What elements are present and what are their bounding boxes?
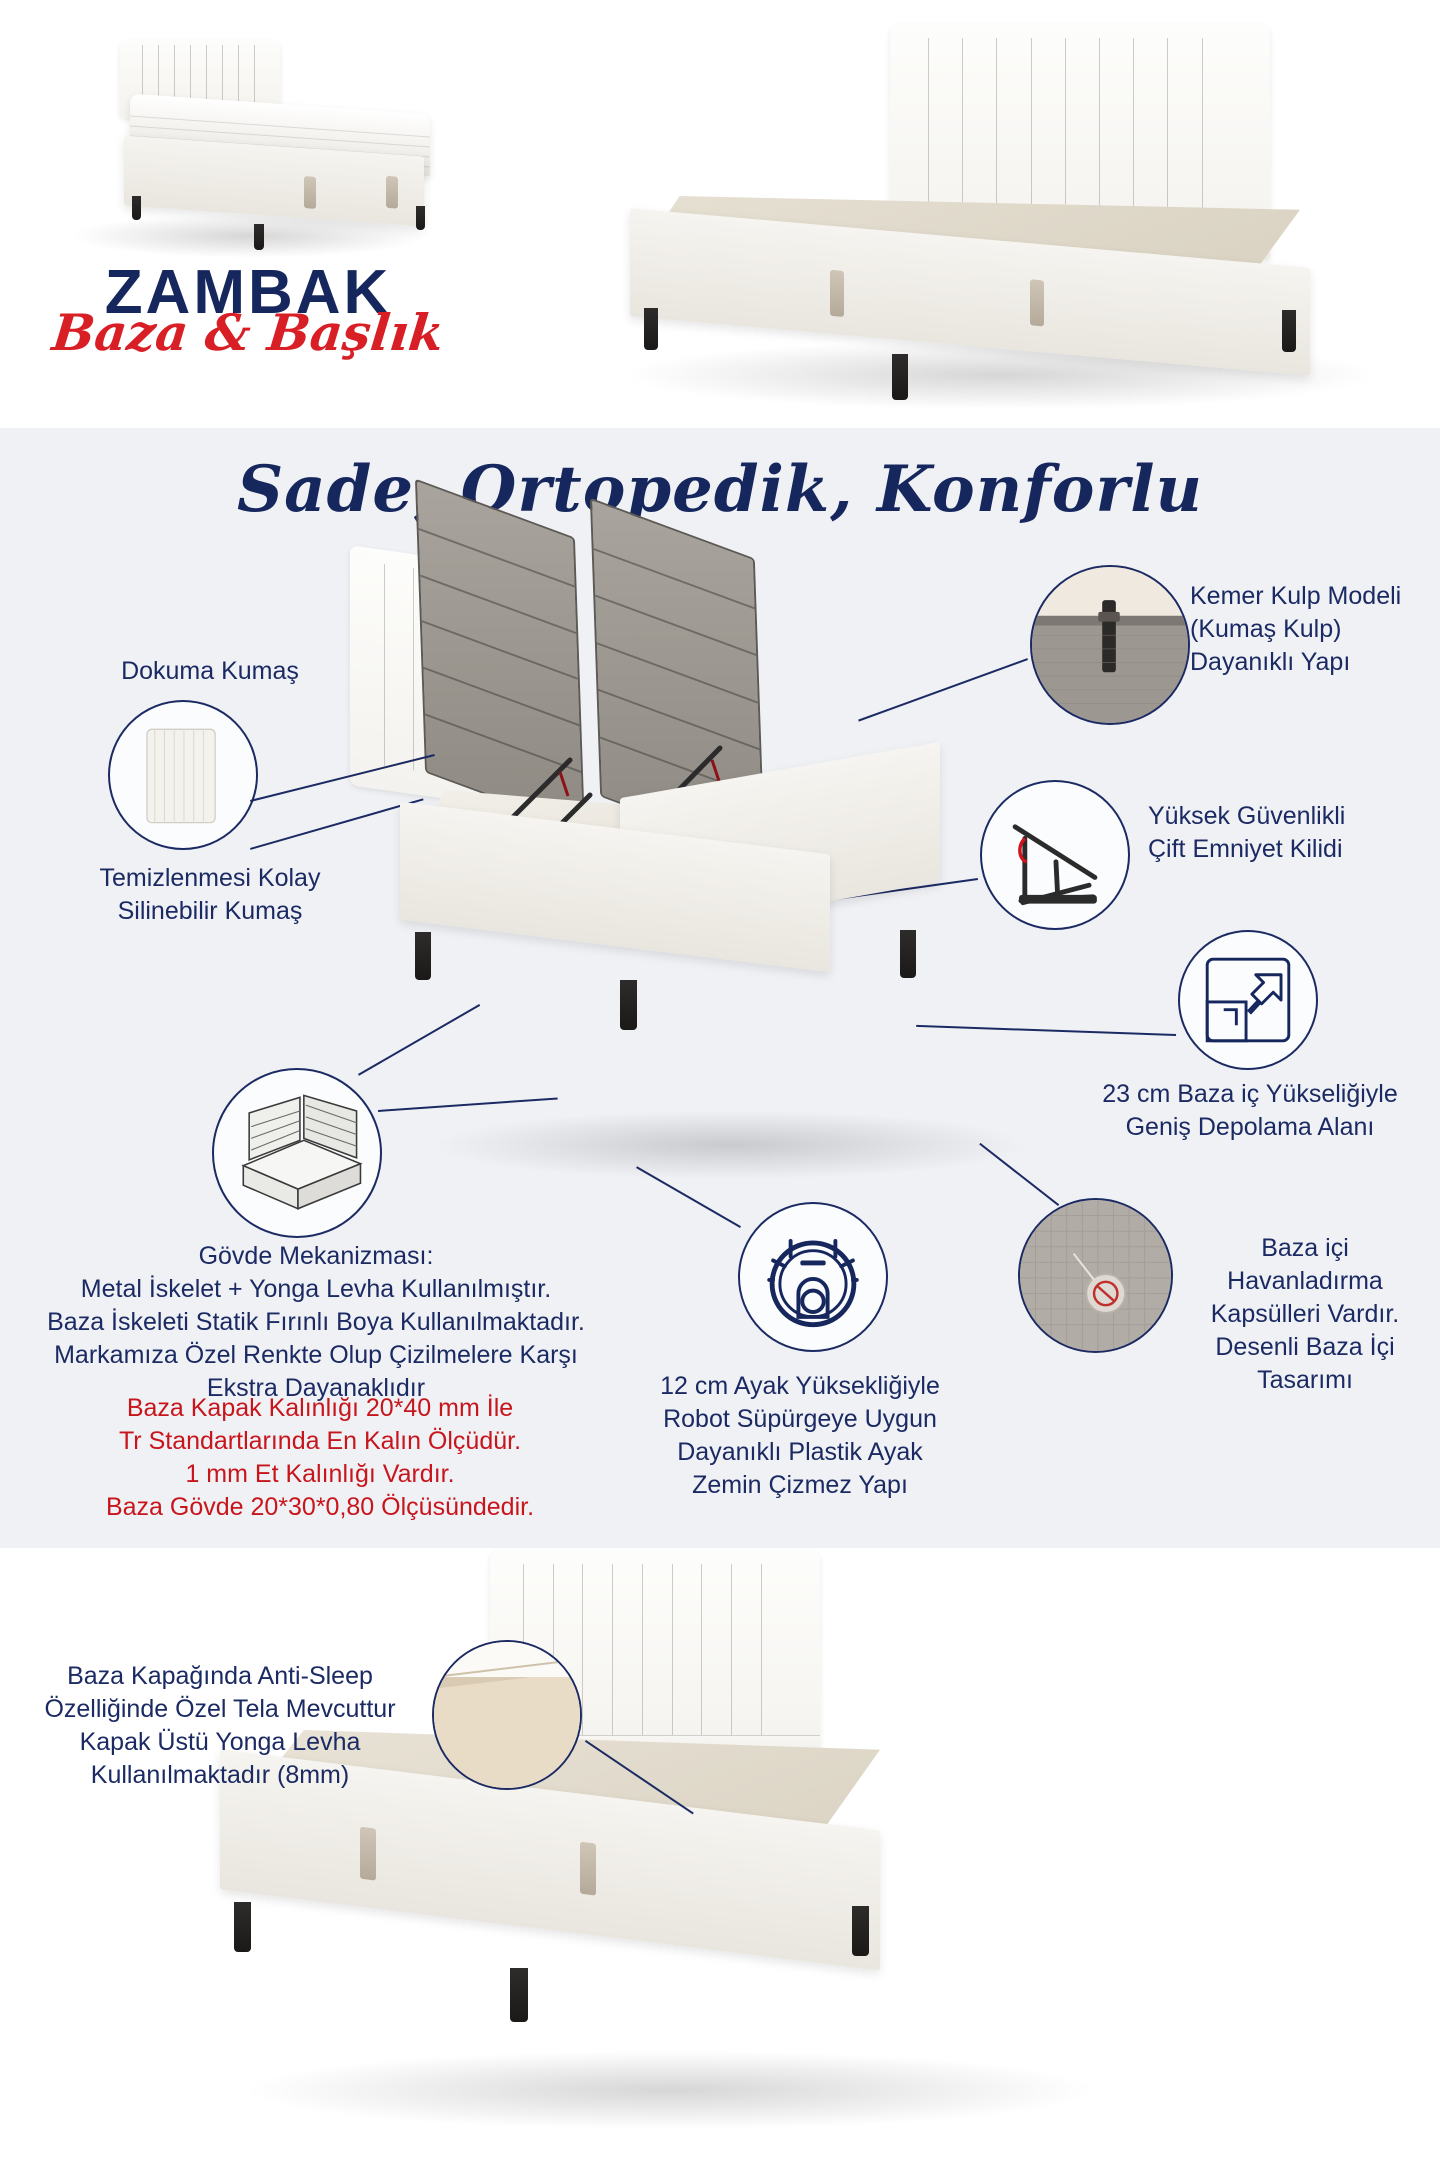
open-base-leg [415,932,431,980]
hero-leg [416,206,425,230]
open-base-shadow [430,1110,1030,1180]
hero-leg [132,196,141,220]
headboard-and-base-product [600,10,1400,420]
fabric-swatch-bubble [108,700,258,850]
closed-base-leg [234,1902,251,1952]
robot-vacuum-label: 12 cm Ayak Yüksekliğiyle Robot Süpürgeye… [620,1370,980,1502]
closed-base-product [200,1540,1140,2140]
brand-logo: ZAMBAK Baza & Başlık [38,262,458,412]
woven-fabric-label: Dokuma Kumaş [60,655,360,688]
anti-sleep-label: Baza Kapağında Anti-Sleep Özelliğinde Öz… [10,1660,430,1792]
hero-base-handle [304,176,316,209]
hero-base-handle [386,176,398,209]
closed-base-leg [510,1968,528,2022]
fabric-swatch-icon [110,702,256,848]
body-mechanism-label: Gövde Mekanizması: Metal İskelet + Yonga… [16,1240,616,1405]
closed-base-handle [360,1827,376,1881]
ventilation-bubble [1018,1198,1173,1353]
lift-mechanism-frame-icon [214,1070,380,1236]
expand-arrow-box-icon [1180,932,1316,1068]
safety-lock-mechanism-icon [982,782,1128,928]
belt-handle-photo-icon [1032,567,1188,723]
open-base-leg [620,980,637,1030]
anti-sleep-fabric-icon [434,1642,580,1788]
safety-lock-bubble [980,780,1130,930]
open-storage-base-product [380,640,1060,1200]
hero-leg [254,224,264,250]
belt-handle-label: Kemer Kulp Modeli (Kumaş Kulp) Dayanıklı… [1190,580,1440,679]
base-handle [830,270,844,317]
robot-vacuum-icon [740,1204,886,1350]
infographic-page: ZAMBAK Baza & Başlık Sade, Ortopedik, Ko… [0,0,1440,2160]
page-headline: Sade, Ortopedik, Konforlu [0,452,1440,527]
ventilation-label: Baza içi Havanladırma Kapsülleri Vardır.… [1180,1232,1430,1397]
closed-base-shadow [240,2050,1100,2130]
thickness-spec-label: Baza Kapak Kalınlığı 20*40 mm İle Tr Sta… [40,1392,600,1524]
hero-bed-with-mattress [60,18,440,268]
brand-tagline: Baza & Başlık [35,308,460,358]
safety-lock-label: Yüksek Güvenlikli Çift Emniyet Kilidi [1148,800,1438,866]
ventilation-capsule-icon [1020,1200,1171,1351]
product-leg [1282,310,1296,352]
base-handle [1030,279,1044,326]
open-base-leg [900,930,916,978]
closed-base-leg [852,1906,869,1956]
product-leg [644,308,658,350]
anti-sleep-bubble [432,1640,582,1790]
storage-height-label: 23 cm Baza iç Yükseliğiyle Geniş Depolam… [1060,1078,1440,1144]
closed-base-handle [580,1842,596,1896]
wipeable-fabric-label: Temizlenmesi Kolay Silinebilir Kumaş [40,862,380,928]
belt-handle-bubble [1030,565,1190,725]
product-leg [892,354,908,400]
mechanism-bubble [212,1068,382,1238]
storage-expand-bubble [1178,930,1318,1070]
robot-vacuum-bubble [738,1202,888,1352]
